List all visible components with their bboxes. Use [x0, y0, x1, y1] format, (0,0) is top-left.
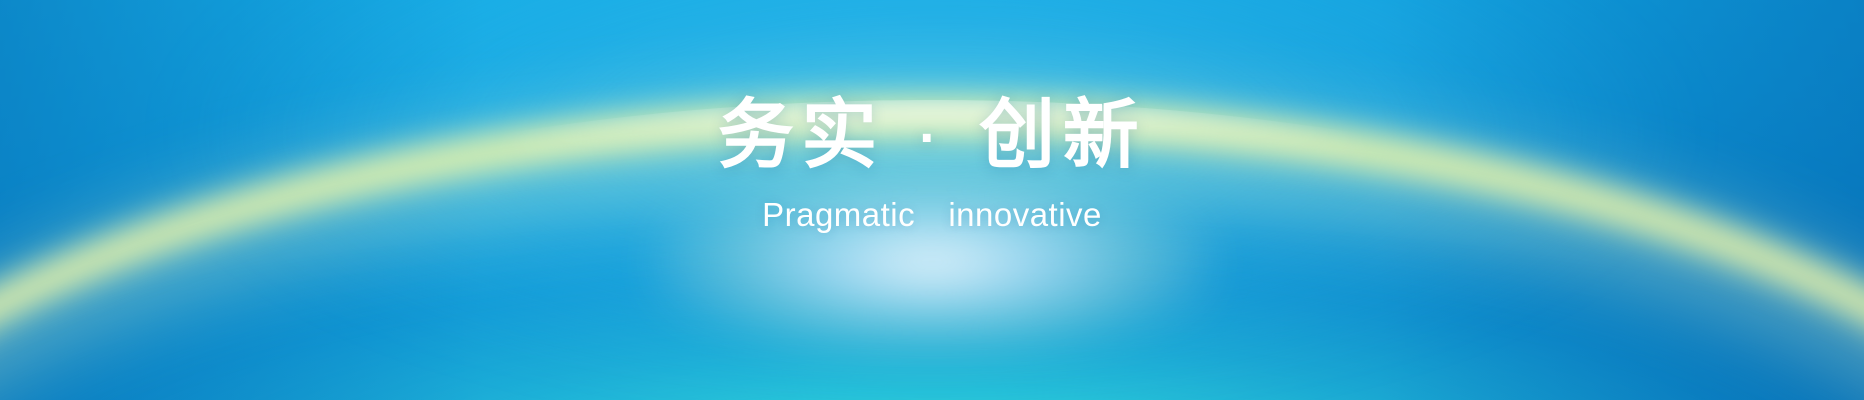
- headline-left-text: 务实: [718, 93, 885, 178]
- banner-headline: 务实 · 创新: [718, 98, 1147, 174]
- hero-banner: 务实 · 创新 Pragmatic innovative: [0, 0, 1864, 400]
- banner-content: 务实 · 创新 Pragmatic innovative: [0, 0, 1864, 400]
- subheadline-word-two: innovative: [948, 196, 1102, 233]
- headline-separator-dot: ·: [914, 110, 951, 165]
- banner-subheadline: Pragmatic innovative: [762, 174, 1102, 234]
- subheadline-word-one: Pragmatic: [762, 196, 915, 233]
- headline-right-text: 创新: [979, 93, 1146, 178]
